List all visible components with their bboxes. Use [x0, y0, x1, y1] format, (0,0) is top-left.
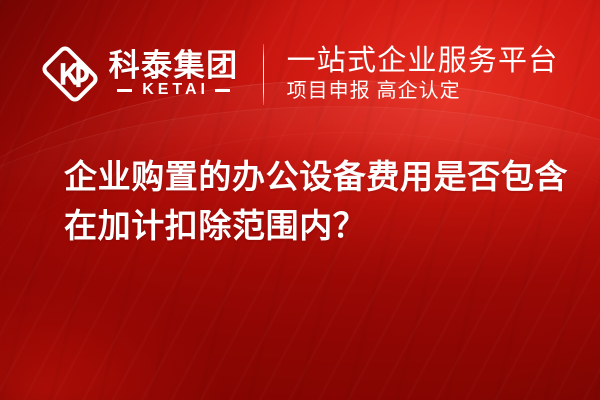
dash-rule-left-icon — [117, 89, 132, 92]
promo-banner: 科泰集团 KETAI 一站式企业服务平台 项目申报 高企认定 企业购置的办公设备… — [0, 0, 600, 400]
vertical-divider-icon — [263, 44, 264, 105]
brand-name-en: KETAI — [138, 82, 209, 98]
headline-line-2: 在加计扣除范围内？ — [64, 201, 572, 250]
ketai-diamond-kt-monogram-icon — [42, 46, 98, 102]
headline-line-1: 企业购置的办公设备费用是否包含 — [64, 152, 572, 201]
dash-rule-right-icon — [215, 89, 230, 92]
brand-wordmark: 科泰集团 KETAI — [109, 50, 239, 99]
brand-logo: 科泰集团 KETAI — [42, 46, 239, 102]
brand-name-cn: 科泰集团 — [109, 50, 239, 82]
brand-tagline: 一站式企业服务平台 项目申报 高企认定 — [287, 46, 559, 102]
brand-name-en-row: KETAI — [109, 82, 239, 98]
tagline-secondary: 项目申报 高企认定 — [287, 80, 559, 102]
tagline-primary: 一站式企业服务平台 — [287, 46, 559, 77]
headline: 企业购置的办公设备费用是否包含 在加计扣除范围内？ — [64, 152, 572, 250]
banner-header: 科泰集团 KETAI 一站式企业服务平台 项目申报 高企认定 — [0, 36, 600, 112]
